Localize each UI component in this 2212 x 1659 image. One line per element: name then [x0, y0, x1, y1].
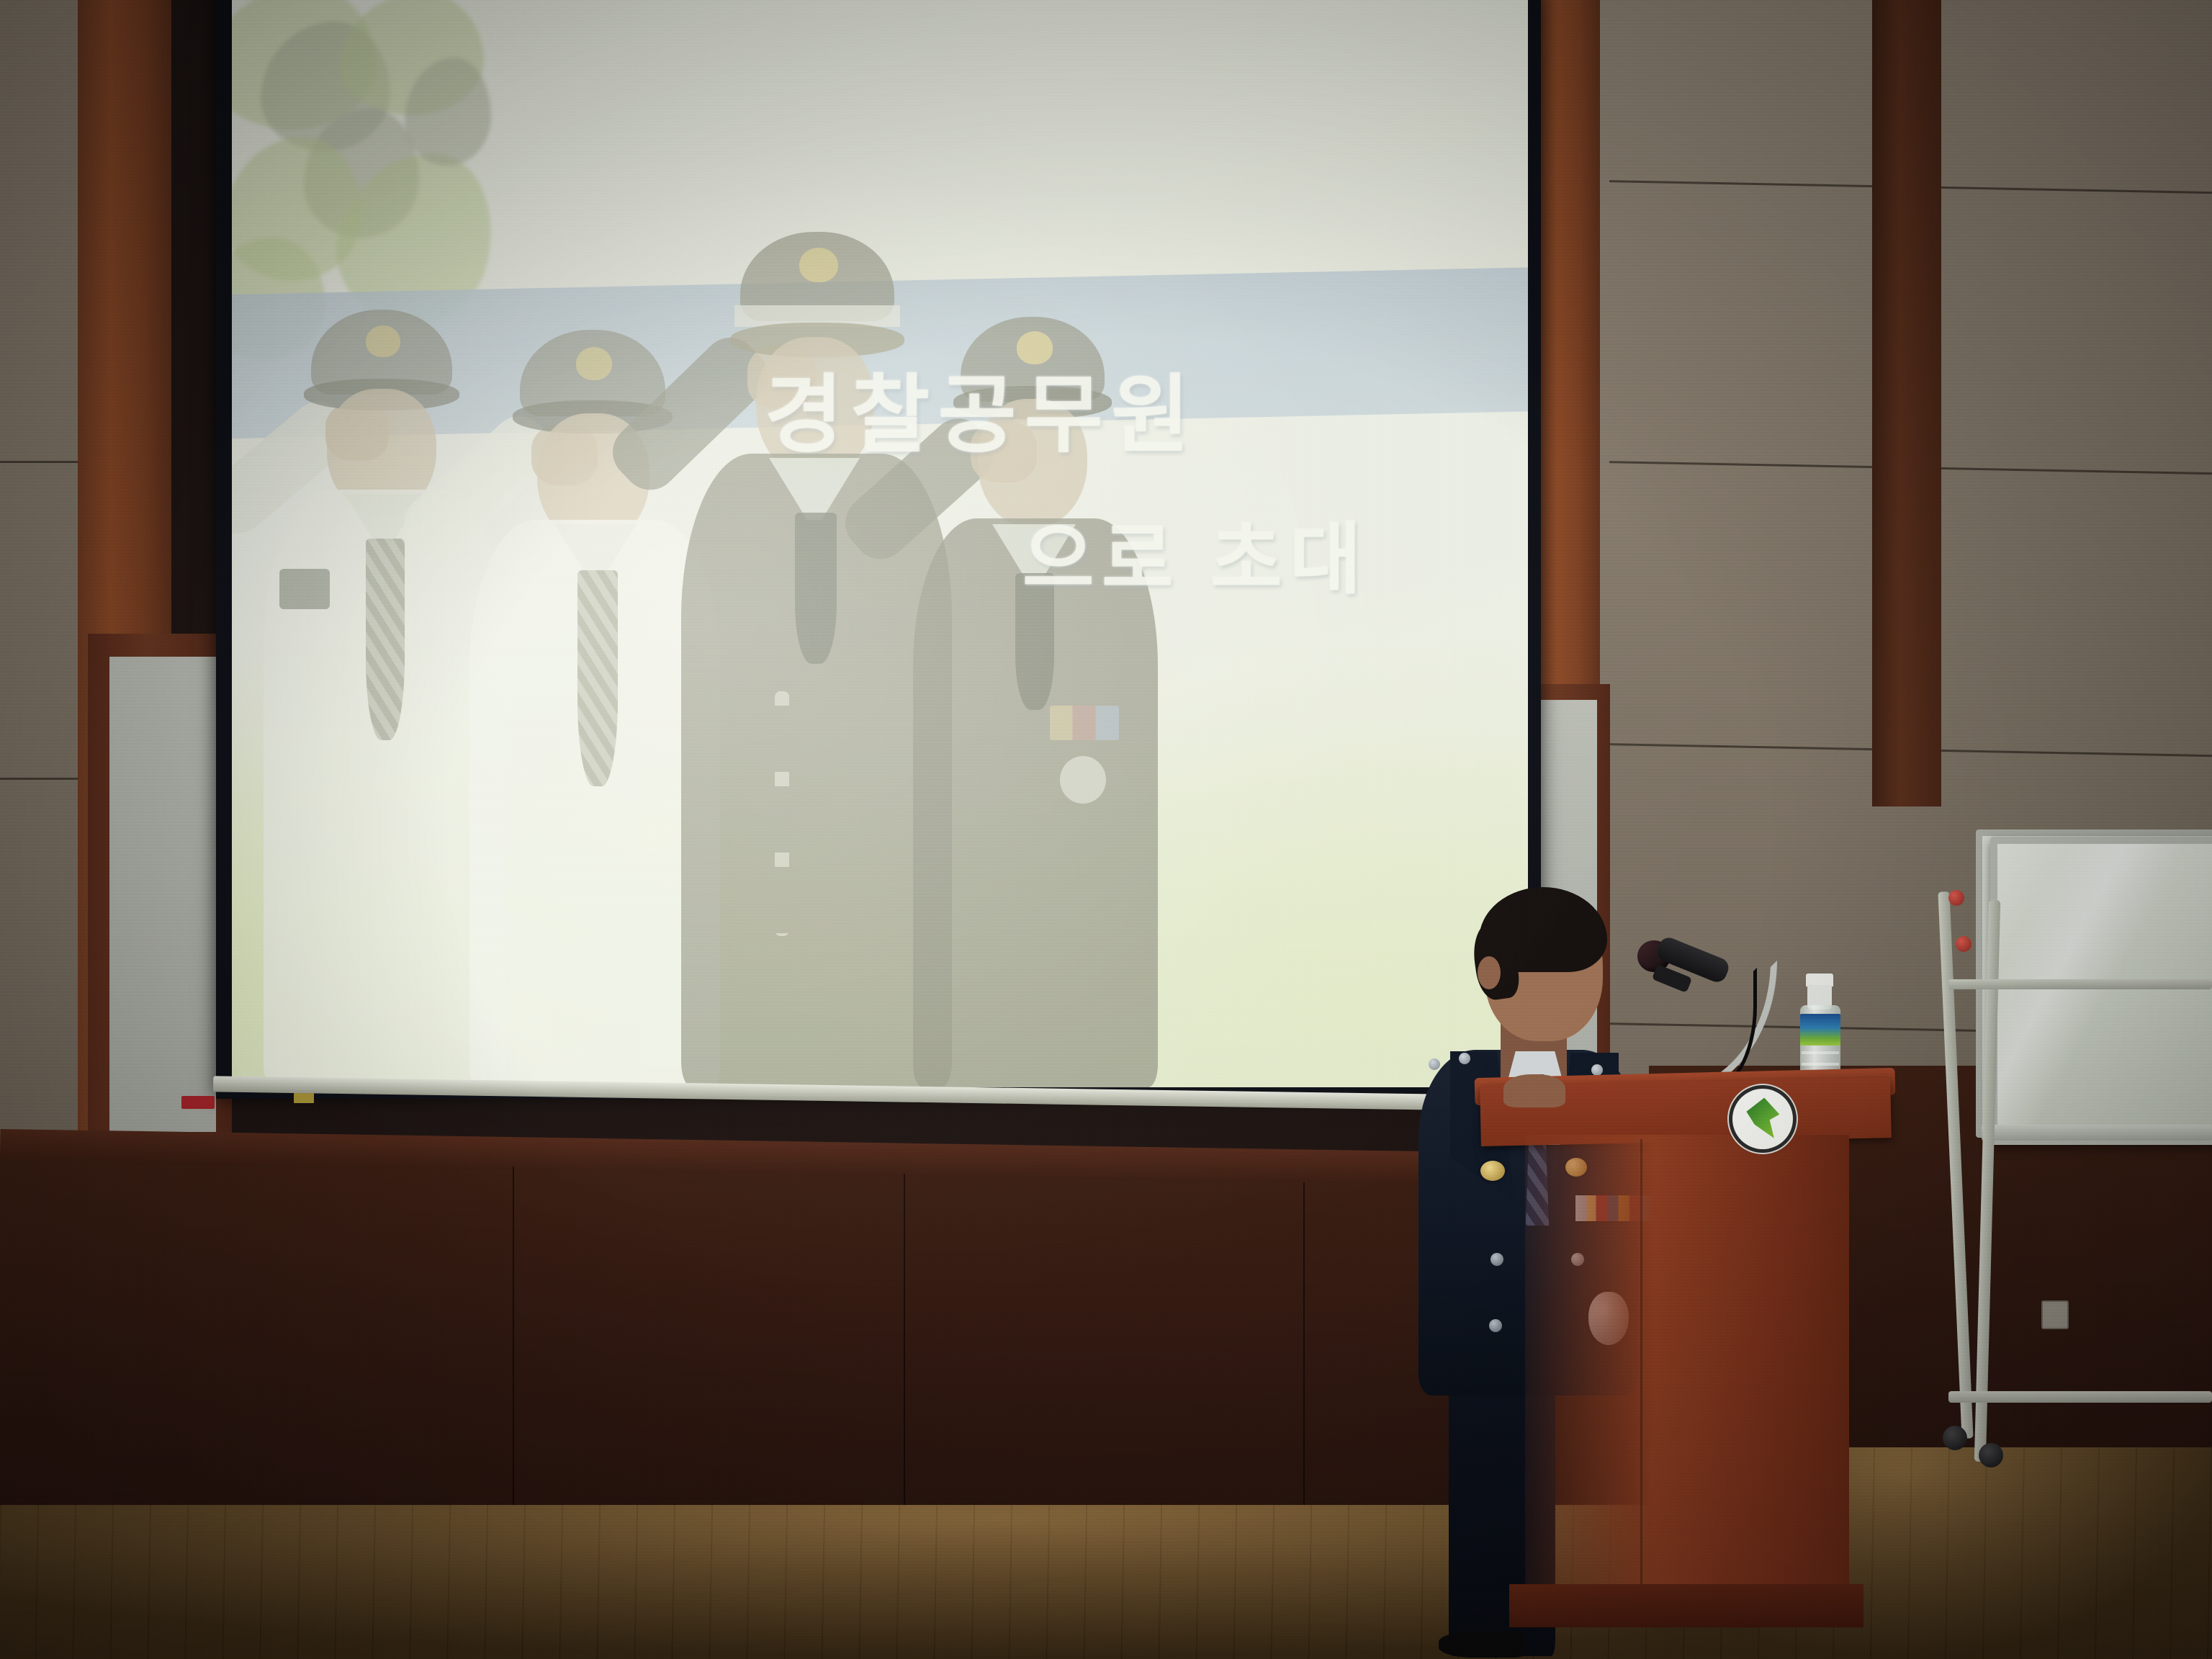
whiteboard-rail-lower [1948, 1391, 2212, 1403]
wall-panel-left [109, 657, 216, 1132]
slide-projector-hotspot [232, 0, 1528, 1087]
speaker-button-1 [1491, 1253, 1503, 1266]
screen-red-tab [181, 1096, 215, 1109]
whiteboard-surface [1990, 837, 2212, 1145]
whiteboard-glare [1997, 844, 2212, 1138]
auditorium-scene: 경찰공무원 으로 초대 [0, 0, 2212, 1659]
podium-emblem-logo [1741, 1096, 1786, 1142]
wall-outlet [2041, 1300, 2069, 1329]
speaker-hand-on-podium [1503, 1074, 1565, 1107]
speaker-ear [1478, 956, 1501, 989]
speaker-shoulder-pip-2 [1459, 1053, 1470, 1064]
stage-wall-seam-1 [513, 1166, 514, 1527]
screen-yellow-tab [294, 1093, 314, 1103]
podium-body [1525, 1135, 1849, 1596]
podium-emblem [1732, 1089, 1793, 1149]
speaker-shoe [1439, 1632, 1525, 1658]
speaker-shoulder-pip-1 [1429, 1058, 1440, 1070]
back-wall-left [0, 0, 81, 1166]
whiteboard-caster-left [1943, 1426, 1967, 1450]
wall-seam-left-2 [0, 778, 81, 780]
projection-screen: 경찰공무원 으로 초대 [232, 0, 1528, 1087]
wood-column-far-right [1872, 0, 1941, 806]
speaker-button-2 [1489, 1319, 1502, 1332]
whiteboard-rail-upper [1948, 979, 2212, 989]
whiteboard-knob-mid[interactable] [1956, 936, 1972, 952]
speaker-insignia-left [1480, 1161, 1505, 1181]
podium-seam [1640, 1139, 1642, 1586]
whiteboard-caster-right [1979, 1443, 2003, 1467]
speaker-shoulder-pip-3 [1591, 1064, 1603, 1076]
whiteboard-marker-tray [1982, 1125, 2212, 1141]
bottle-ring-1 [1802, 1051, 1839, 1054]
podium-base [1509, 1584, 1863, 1627]
bottle-label [1800, 1014, 1840, 1046]
wall-seam-left-1 [0, 461, 81, 463]
stage-wall-seam-3 [1303, 1182, 1305, 1542]
stage-wall-seam-2 [904, 1174, 905, 1534]
bottle-ring-2 [1802, 1063, 1839, 1066]
stage-front-wall [0, 1152, 1649, 1555]
whiteboard-knob-top[interactable] [1948, 890, 1964, 906]
